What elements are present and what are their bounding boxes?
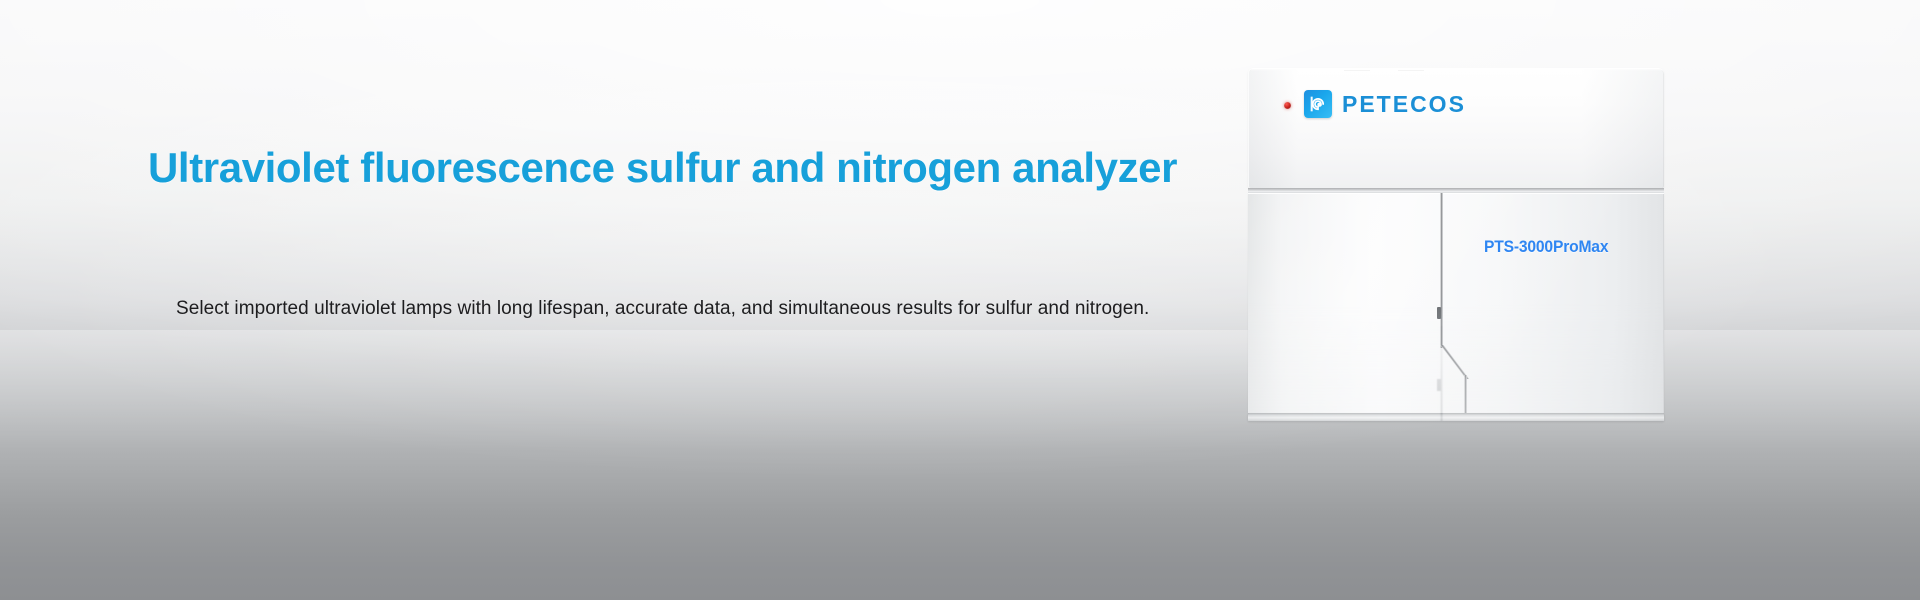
device-main-body: PTS-3000ProMax (1248, 193, 1664, 413)
hero-copy-block: Ultraviolet fluorescence sulfur and nitr… (0, 0, 1060, 600)
device-model-label: PTS-3000ProMax (1484, 237, 1608, 257)
device-base-plinth (1248, 413, 1664, 421)
door-latch-notch-icon (1437, 307, 1441, 319)
door-seam-lower-icon (1464, 375, 1467, 415)
page-title: Ultraviolet fluorescence sulfur and nitr… (148, 144, 1177, 192)
door-seam-jog-icon (1440, 345, 1472, 379)
power-led-indicator-icon (1284, 102, 1291, 109)
top-vent-mark (1398, 70, 1424, 71)
top-vent-mark (1344, 70, 1370, 71)
brand-lockup: PETECOS (1304, 90, 1466, 118)
analyzer-device-image: PETECOS PTS-3000ProMax (1248, 68, 1664, 438)
device-top-panel: PETECOS (1248, 68, 1664, 188)
hero-banner: Ultraviolet fluorescence sulfur and nitr… (0, 0, 1920, 600)
brand-wordmark: PETECOS (1342, 93, 1466, 116)
petecos-spiral-logo-icon (1304, 90, 1332, 118)
page-subtitle: Select imported ultraviolet lamps with l… (176, 298, 1149, 320)
door-seam-line-icon (1440, 193, 1443, 348)
